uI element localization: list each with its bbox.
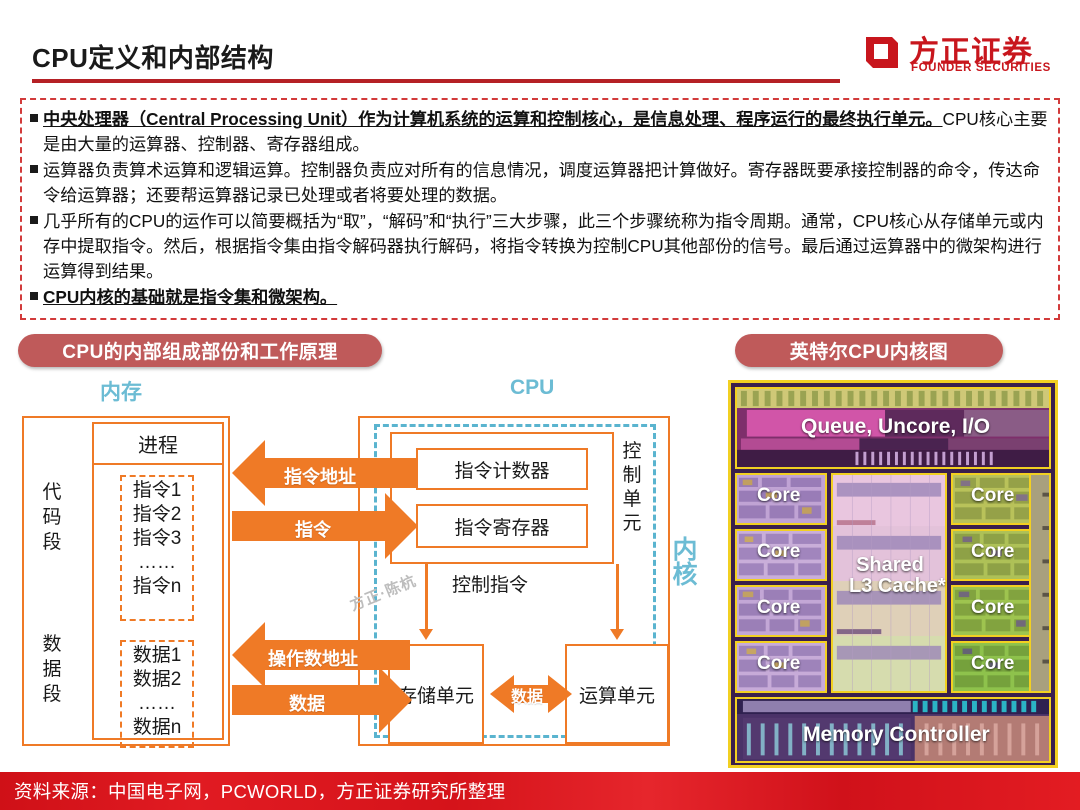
section-title-right: 英特尔CPU内核图: [735, 334, 1003, 367]
bullet-rest: 运算器负责算术运算和逻辑运算。控制器负责应对所有的信息情况，调度运算器把计算做好…: [43, 160, 1040, 205]
bullet-square-icon: [30, 165, 38, 173]
bullet-square-icon: [30, 114, 38, 122]
bullet-item: CPU内核的基础就是指令集和微架构。: [30, 285, 1048, 310]
founder-securities-logo: 方正证券 FOUNDER SECURITIES: [862, 30, 1062, 82]
bullet-text: 中央处理器（Central Processing Unit）作为计算机系统的运算…: [43, 107, 1048, 157]
die-label-queue-uncore-io: Queue, Uncore, I/O: [801, 415, 990, 439]
bullet-square-icon: [30, 216, 38, 224]
source-footer-bar: 资料来源：中国电子网，PCWORLD，方正证券研究所整理: [0, 772, 1080, 810]
die-label-l3-cache-line2: L3 Cache*: [849, 576, 931, 597]
die-label-core: Core: [971, 653, 1014, 675]
instruction-address-arrow-label: 指令地址: [284, 463, 356, 489]
description-text-box: 中央处理器（Central Processing Unit）作为计算机系统的运算…: [20, 98, 1060, 320]
title-underline-rule: [32, 79, 840, 83]
bullet-rest: 几乎所有的CPU的运作可以简要概括为“取”，“解码”和“执行”三大步骤，此三个步…: [43, 211, 1044, 281]
die-texture: [1031, 475, 1049, 691]
bullet-text: CPU内核的基础就是指令集和微架构。: [43, 285, 1048, 310]
logo-mark-icon: [862, 32, 902, 72]
logo-english-text: FOUNDER SECURITIES: [911, 62, 1051, 74]
bullet-emphasis: 中央处理器（Central Processing Unit）作为计算机系统的运算…: [43, 109, 943, 129]
instruction-arrow-label: 指令: [295, 516, 331, 542]
die-label-core: Core: [757, 485, 800, 507]
data-bus-arrow-label: 数据: [289, 690, 325, 716]
bullet-item: 几乎所有的CPU的运作可以简要概括为“取”，“解码”和“执行”三大步骤，此三个步…: [30, 209, 1048, 284]
die-label-core: Core: [971, 541, 1014, 563]
bullet-item: 运算器负责算术运算和逻辑运算。控制器负责应对所有的信息情况，调度运算器把计算做好…: [30, 158, 1048, 208]
bus-arrows-group: [0, 370, 720, 770]
bullet-item: 中央处理器（Central Processing Unit）作为计算机系统的运算…: [30, 107, 1048, 157]
page-header: CPU定义和内部结构 方正证券 FOUNDER SECURITIES: [0, 0, 1080, 88]
die-label-core: Core: [757, 653, 800, 675]
die-label-l3-cache: Shared L3 Cache*: [849, 555, 931, 597]
cpu-architecture-diagram: 内存 CPU 内核 进程 代码段 数据段 指令1 指令2 指令3 …… 指令n …: [0, 370, 720, 770]
die-label-memory-controller: Memory Controller: [803, 723, 990, 747]
page-title: CPU定义和内部结构: [32, 38, 274, 75]
intel-cpu-die-photo: Queue, Uncore, I/O Core Core Core Cor: [728, 380, 1058, 768]
die-label-core: Core: [971, 597, 1014, 619]
die-region-right-strip: [1029, 473, 1051, 693]
die-label-core: Core: [757, 597, 800, 619]
bullet-square-icon: [30, 292, 38, 300]
bullet-text: 几乎所有的CPU的运作可以简要概括为“取”，“解码”和“执行”三大步骤，此三个步…: [43, 209, 1048, 284]
die-label-core: Core: [971, 485, 1014, 507]
bullet-text: 运算器负责算术运算和逻辑运算。控制器负责应对所有的信息情况，调度运算器把计算做好…: [43, 158, 1048, 208]
die-label-core: Core: [757, 541, 800, 563]
bullet-emphasis: CPU内核的基础就是指令集和微架构。: [43, 287, 337, 307]
internal-data-arrow-label: 数据: [511, 683, 543, 707]
die-label-l3-cache-line1: Shared: [849, 555, 931, 576]
operand-address-arrow-label: 操作数地址: [268, 645, 358, 671]
section-title-left: CPU的内部组成部份和工作原理: [18, 334, 382, 367]
source-text: 资料来源：中国电子网，PCWORLD，方正证券研究所整理: [14, 778, 505, 804]
